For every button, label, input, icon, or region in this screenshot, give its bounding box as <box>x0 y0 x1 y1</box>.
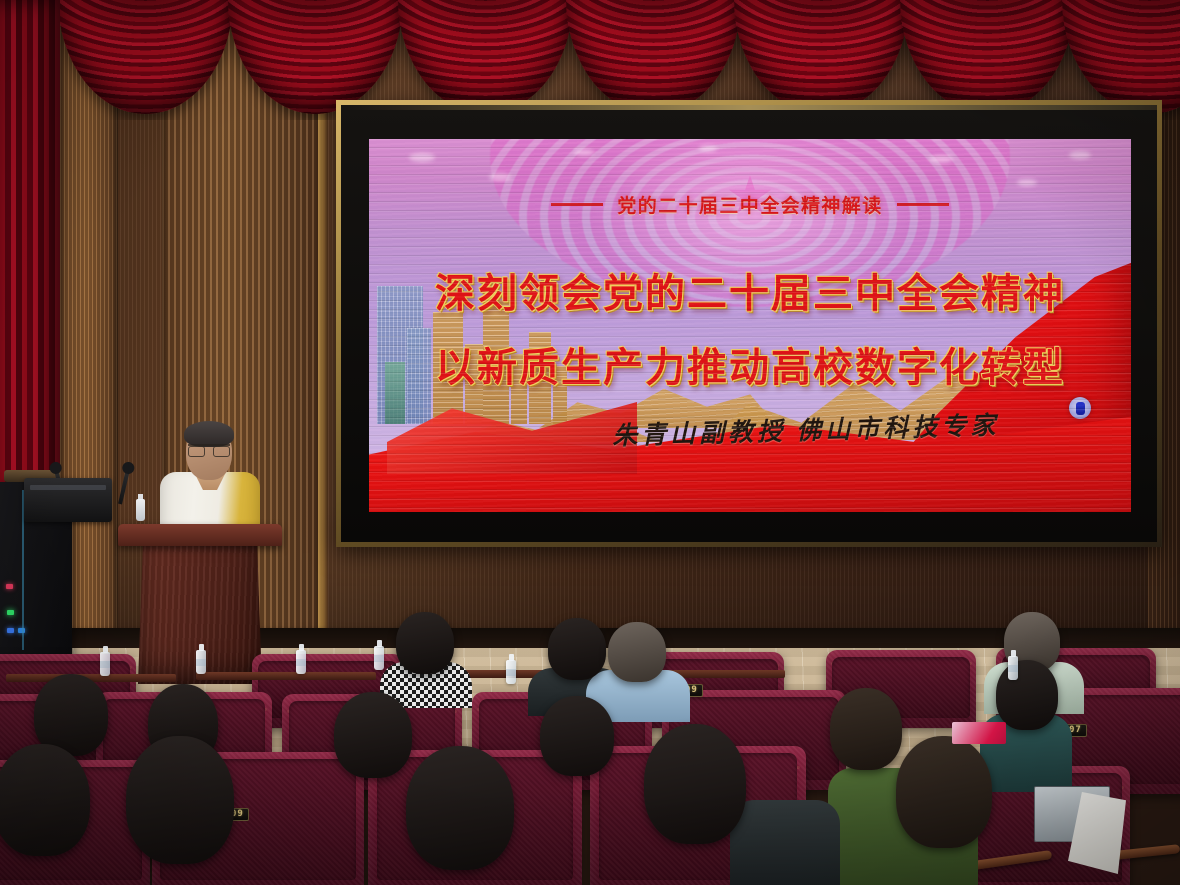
attendee-head <box>830 688 902 770</box>
slide-header-text: 党的二十届三中全会精神解读 <box>617 191 882 218</box>
attendee-head <box>0 744 90 856</box>
cloud-shape <box>929 155 953 163</box>
cloud-shape <box>699 145 717 152</box>
confidence-monitor <box>24 478 112 522</box>
pink-tablet[interactable] <box>952 722 1006 744</box>
cloud-shape <box>1069 151 1091 159</box>
rack-led-green-icon <box>7 610 14 615</box>
attendee-shoulders <box>730 800 840 885</box>
slide-title-line-1: 深刻领会党的二十届三中全会精神 <box>369 261 1131 319</box>
attendee-head <box>334 692 412 778</box>
cloud-shape <box>574 149 594 156</box>
attendee-head <box>996 660 1058 730</box>
glasses-icon <box>188 444 230 453</box>
rack-led-blue-icon <box>7 628 14 633</box>
water-bottle <box>296 650 306 674</box>
water-bottle <box>100 652 110 676</box>
rack-led-red-icon <box>6 584 13 589</box>
attendee-head <box>406 746 514 870</box>
attendee-head <box>126 736 234 864</box>
seat-desk <box>196 672 376 680</box>
water-bottle <box>1008 656 1018 680</box>
wall-panel-gold-edge <box>318 0 328 700</box>
attendee-head <box>608 622 666 682</box>
attendee-head <box>548 618 606 680</box>
water-bottle <box>374 646 384 670</box>
water-bottle <box>196 650 206 674</box>
attendee-head <box>644 724 746 844</box>
cloud-shape <box>409 153 435 162</box>
water-bottle <box>136 499 145 521</box>
lectern-top <box>118 524 282 546</box>
attendee-head <box>896 736 992 848</box>
slide-header-line: 党的二十届三中全会精神解读 <box>369 191 1131 218</box>
attendee-head <box>540 696 614 776</box>
led-screen-frame: 党的二十届三中全会精神解读 深刻领会党的二十届三中全会精神 以新质生产力推动高校… <box>336 100 1162 547</box>
audience-seating: 09 10 09 <box>0 640 1180 885</box>
water-bottle <box>506 660 516 684</box>
header-dash-left <box>551 203 603 206</box>
cloud-shape <box>1017 179 1037 186</box>
attendee-head <box>396 612 454 674</box>
cloud-shape <box>489 173 511 181</box>
rack-led-blue-icon <box>18 628 25 633</box>
blue-badge-icon <box>1069 397 1091 419</box>
auditorium-scene: 党的二十届三中全会精神解读 深刻领会党的二十届三中全会精神 以新质生产力推动高校… <box>0 0 1180 885</box>
presentation-slide[interactable]: 党的二十届三中全会精神解读 深刻领会党的二十届三中全会精神 以新质生产力推动高校… <box>369 139 1131 512</box>
slide-title-line-2: 以新质生产力推动高校数字化转型 <box>369 335 1131 393</box>
header-dash-right <box>897 203 949 206</box>
led-screen-bezel: 党的二十届三中全会精神解读 深刻领会党的二十届三中全会精神 以新质生产力推动高校… <box>341 105 1157 542</box>
